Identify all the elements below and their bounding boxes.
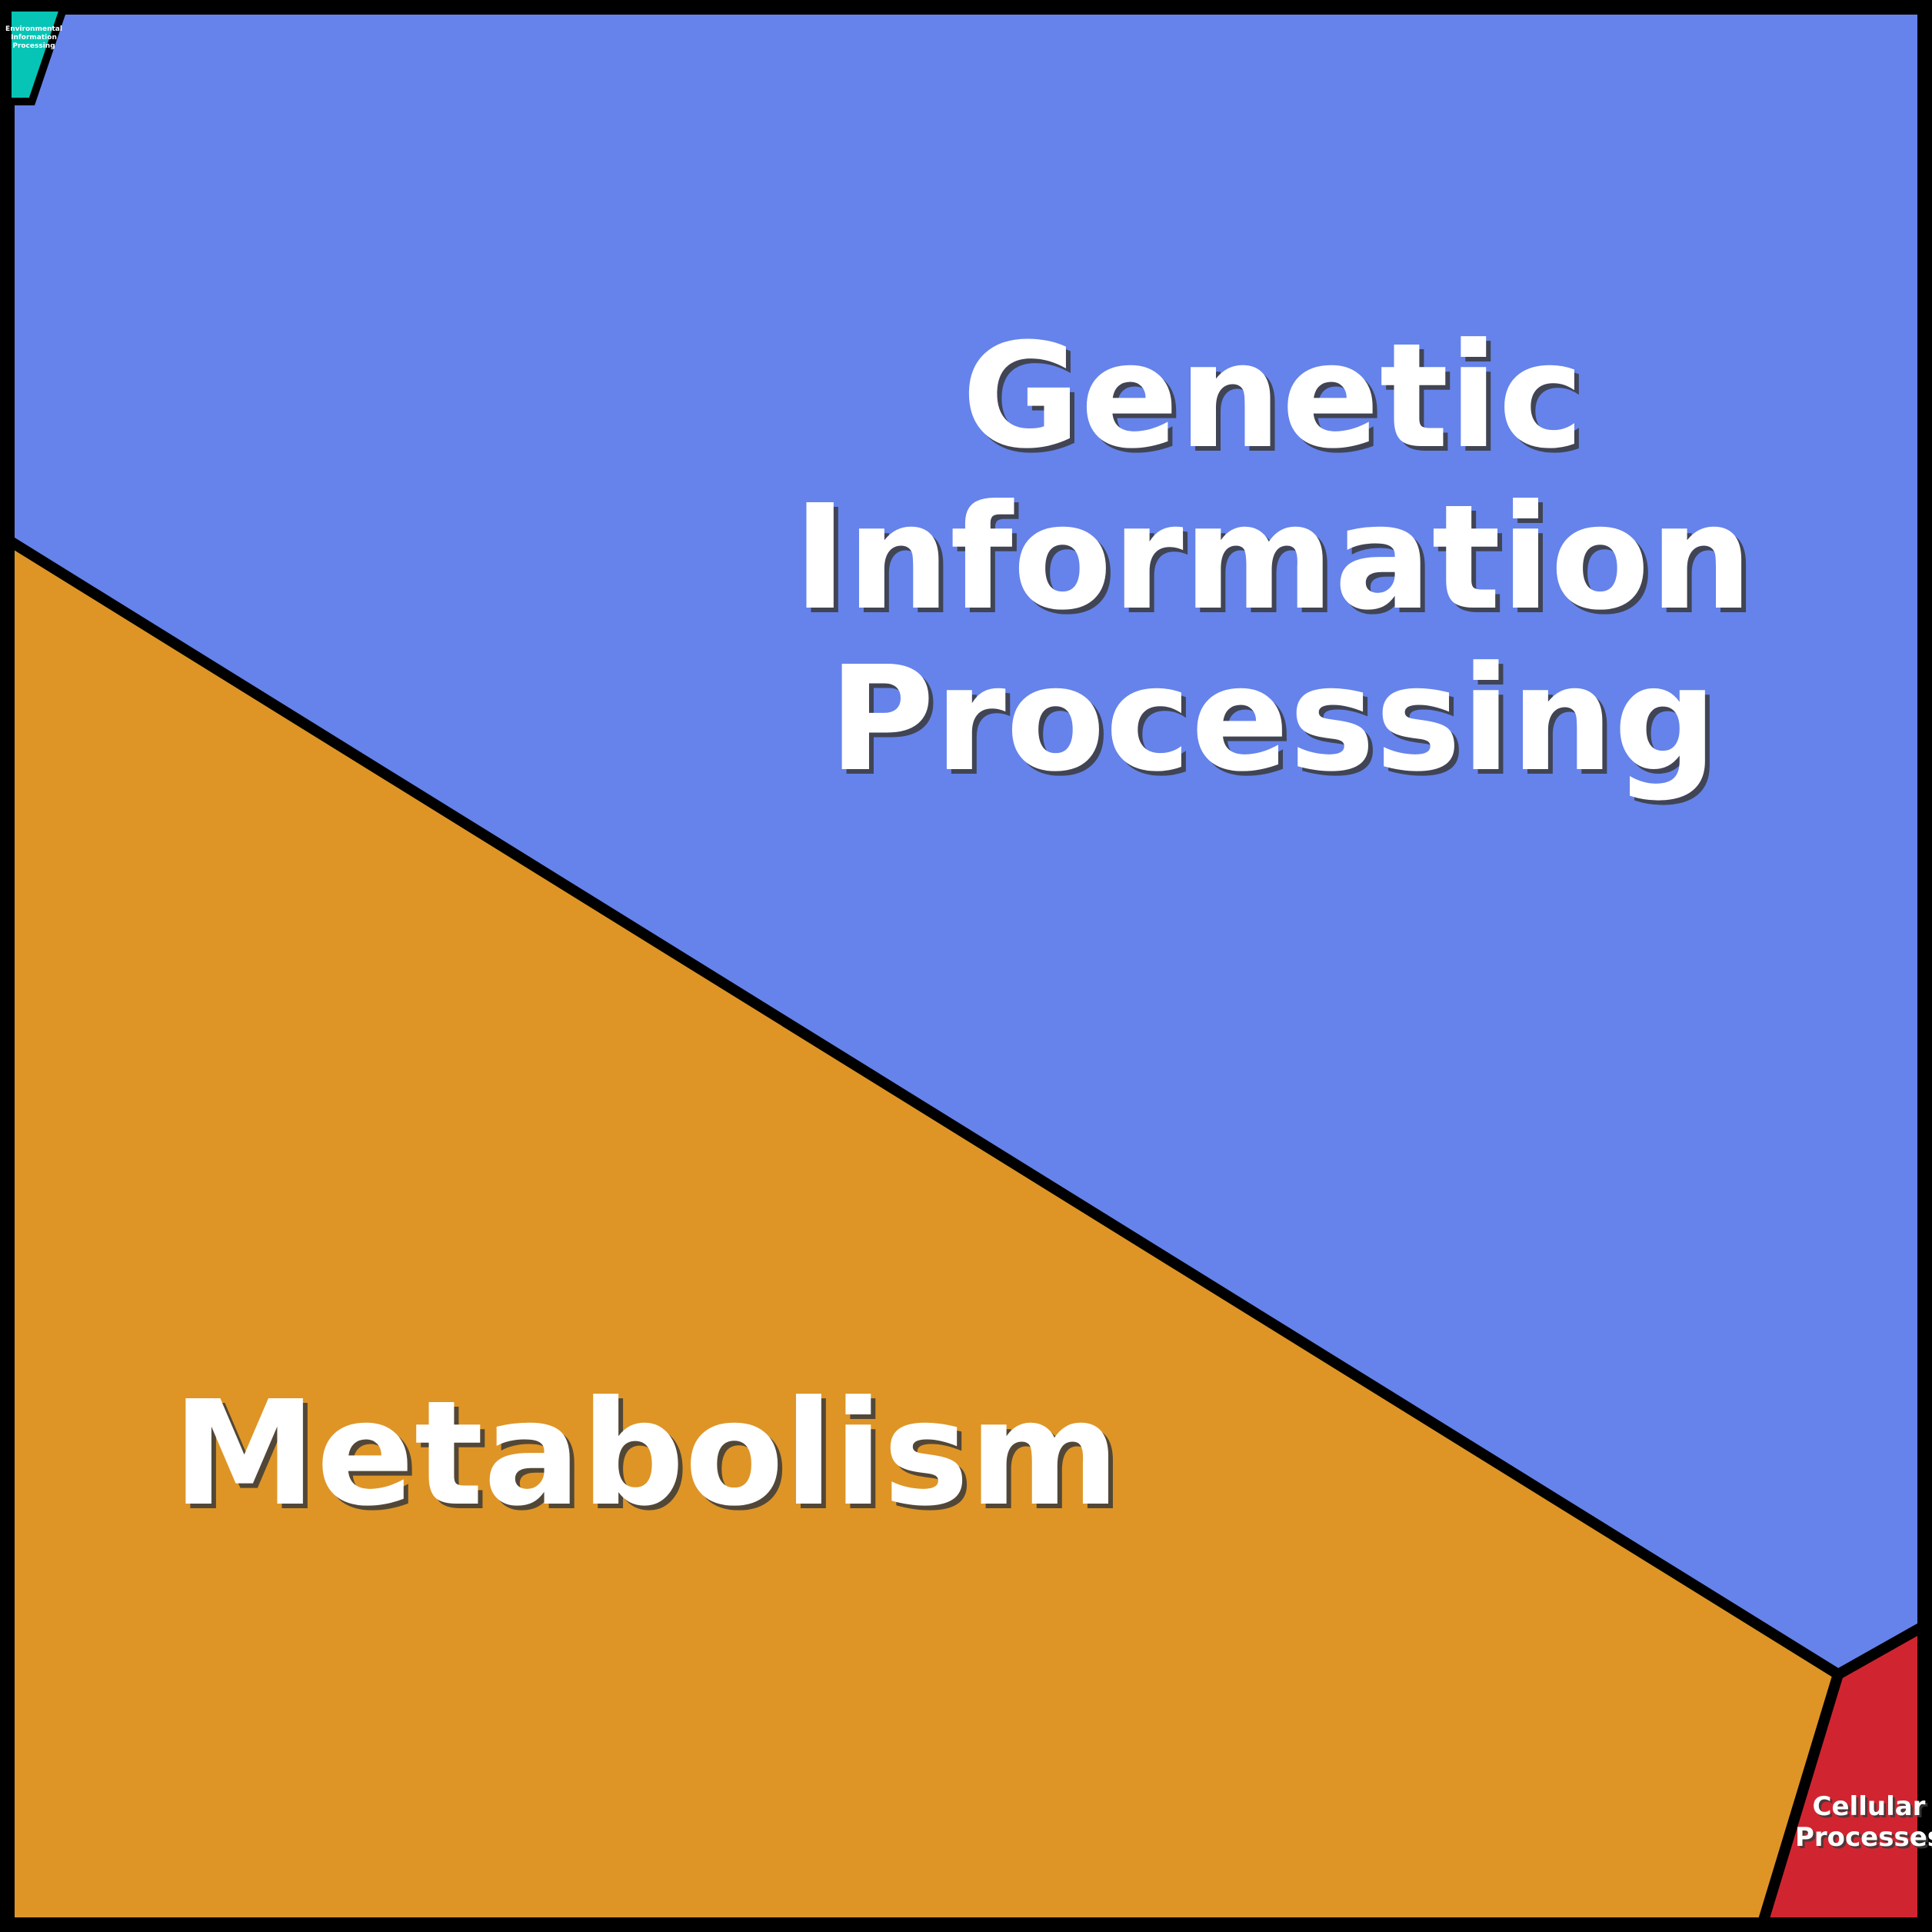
env-label-line2: Information [11,34,57,42]
metabolism-label: Metabolism [172,1370,1120,1538]
cellular-processes-label-line1: Cellular [1813,1791,1926,1822]
gip-label-line1: Genetic [962,312,1584,481]
env-label-line1: Environmental [5,25,62,33]
label-cellular-processes: Cellular Cellular Processes Processes [1795,1791,1932,1855]
cellular-processes-label-line2: Processes [1795,1822,1932,1853]
gip-label-line3: Processing [828,635,1717,804]
label-environmental-information-processing: Environmental Information Processing [5,25,62,50]
treemap-figure: Genetic Genetic Information Information … [0,0,1932,1932]
gip-label-line2: Information [793,474,1753,642]
label-metabolism: Metabolism Metabolism [172,1370,1124,1543]
treemap-canvas: Genetic Genetic Information Information … [0,0,1932,1932]
env-label-line3: Processing [12,42,55,50]
